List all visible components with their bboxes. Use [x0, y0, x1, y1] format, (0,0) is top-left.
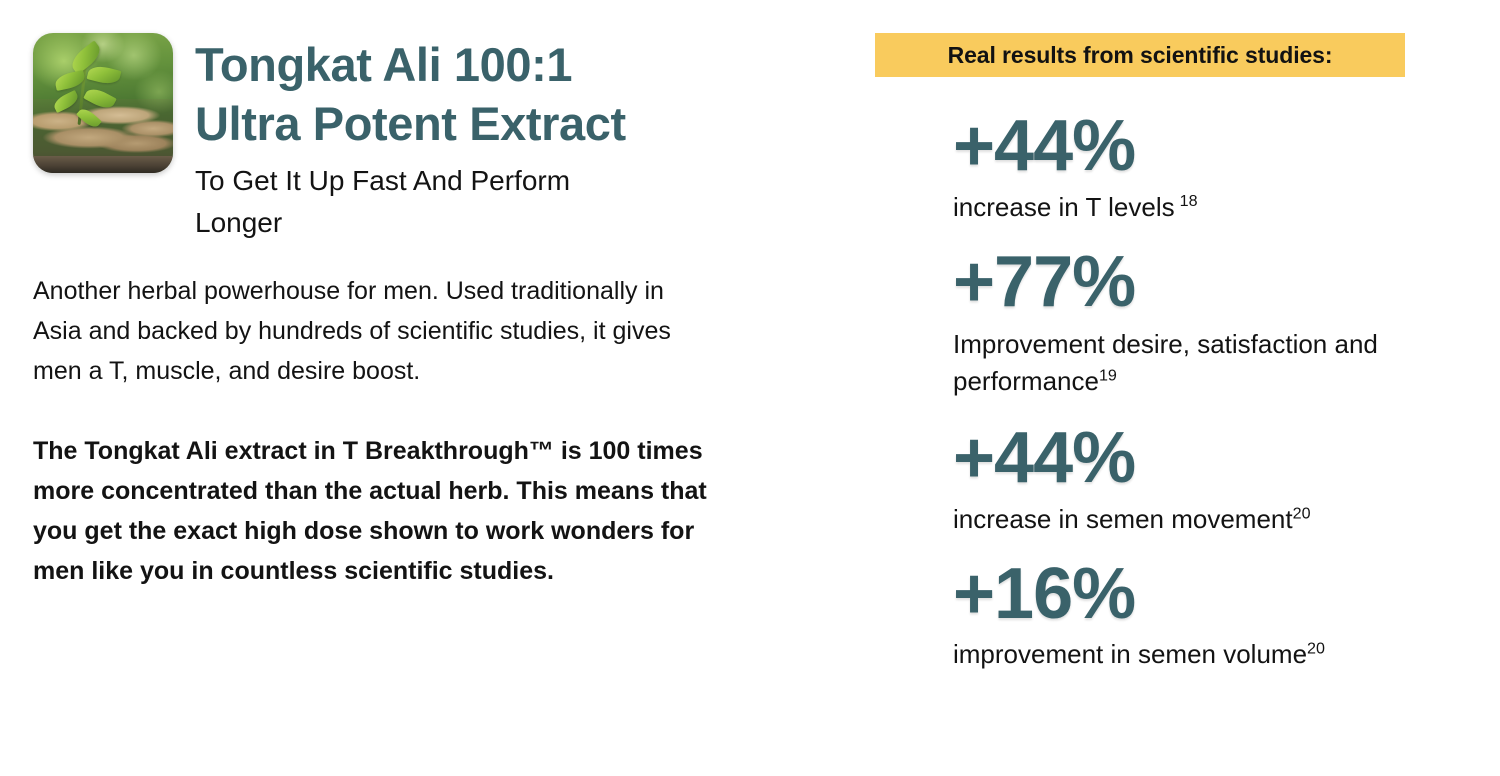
- stat-item: +44% increase in T levels18: [953, 106, 1493, 226]
- stat-label-text: Improvement desire, satisfaction and per…: [953, 329, 1378, 396]
- tongkat-ali-root-image: [33, 33, 173, 173]
- stat-label-text: increase in semen movement: [953, 504, 1293, 534]
- stat-item: +44% increase in semen movement20: [953, 418, 1493, 538]
- wood-board-icon: [33, 156, 173, 173]
- stat-citation: 20: [1293, 504, 1311, 522]
- stat-citation: 19: [1099, 366, 1117, 384]
- stat-label: improvement in semen volume20: [953, 636, 1493, 673]
- stat-label: increase in T levels18: [953, 189, 1493, 226]
- stat-citation: 18: [1180, 192, 1198, 210]
- stat-label: increase in semen movement20: [953, 501, 1493, 538]
- stat-label: Improvement desire, satisfaction and per…: [953, 326, 1493, 400]
- product-highlight: The Tongkat Ali extract in T Breakthroug…: [33, 431, 723, 591]
- product-title: Tongkat Ali 100:1 Ultra Potent Extract: [195, 35, 626, 153]
- stat-item: +16% improvement in semen volume20: [953, 554, 1493, 674]
- results-banner: Real results from scientific studies:: [875, 33, 1405, 77]
- title-text-group: Tongkat Ali 100:1 Ultra Potent Extract T…: [195, 33, 626, 243]
- results-column: Real results from scientific studies: +4…: [875, 0, 1500, 776]
- leaf-icon: [87, 63, 122, 86]
- stat-value: +77%: [953, 242, 1493, 323]
- promo-page: Tongkat Ali 100:1 Ultra Potent Extract T…: [0, 0, 1500, 776]
- product-info-column: Tongkat Ali 100:1 Ultra Potent Extract T…: [0, 0, 790, 776]
- product-subtitle: To Get It Up Fast And Perform Longer: [195, 160, 626, 243]
- stat-item: +77% Improvement desire, satisfaction an…: [953, 242, 1493, 400]
- stat-value: +44%: [953, 106, 1493, 187]
- results-banner-label: Real results from scientific studies:: [948, 42, 1333, 69]
- stat-value: +16%: [953, 554, 1493, 635]
- stat-value: +44%: [953, 418, 1493, 499]
- stat-label-text: increase in T levels: [953, 192, 1175, 222]
- stat-label-text: improvement in semen volume: [953, 639, 1307, 669]
- title-row: Tongkat Ali 100:1 Ultra Potent Extract T…: [33, 33, 790, 243]
- stat-citation: 20: [1307, 639, 1325, 657]
- product-description: Another herbal powerhouse for men. Used …: [33, 271, 693, 391]
- stats-list: +44% increase in T levels18 +77% Improve…: [953, 106, 1493, 681]
